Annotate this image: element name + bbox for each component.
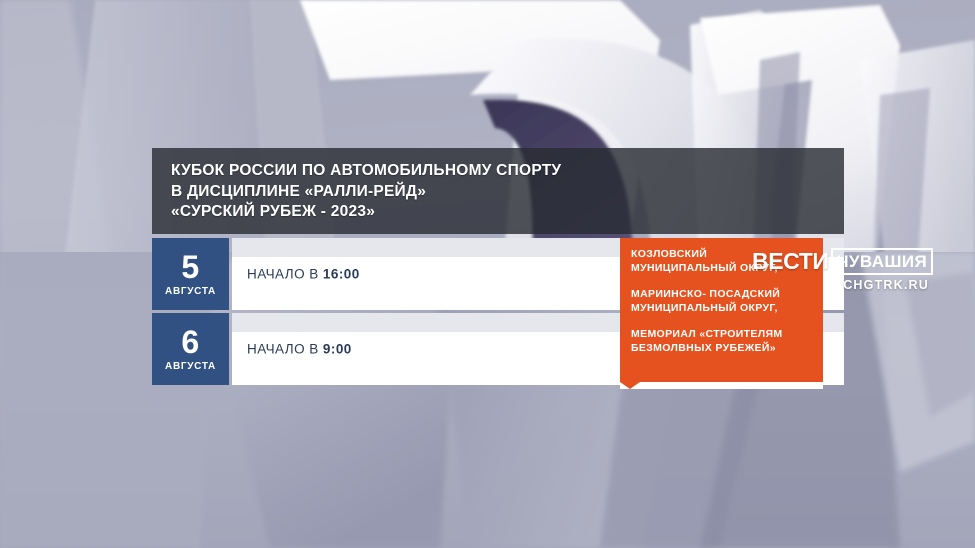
start-time-prefix: НАЧАЛО В: [247, 342, 323, 357]
event-info-panel: КУБОК РОССИИ ПО АВТОМОБИЛЬНОМУ СПОРТУ В …: [152, 148, 844, 389]
location-line: КОЗЛОВСКИЙ: [631, 248, 814, 262]
title-line-1: КУБОК РОССИИ ПО АВТОМОБИЛЬНОМУ СПОРТУ: [171, 161, 844, 182]
date-month: АВГУСТА: [165, 284, 216, 299]
date-badge: 5 АВГУСТА: [152, 238, 229, 310]
location-item: МЕМОРИАЛ «СТРОИТЕЛЯМ БЕЗМОЛВНЫХ РУБЕЖЕЙ»: [631, 328, 814, 355]
location-line: БЕЗМОЛВНЫХ РУБЕЖЕЙ»: [631, 342, 814, 356]
location-line: МУНИЦИПАЛЬНЫЙ ОКРУГ,: [631, 302, 814, 316]
location-line: МУНИЦИПАЛЬНЫЙ ОКРУГ,: [631, 262, 814, 276]
locations-panel: КОЗЛОВСКИЙ МУНИЦИПАЛЬНЫЙ ОКРУГ, МАРИИНСК…: [620, 238, 823, 382]
title-line-2: В ДИСЦИПЛИНЕ «РАЛЛИ-РЕЙД»: [171, 182, 844, 203]
start-time-label: НАЧАЛО В 9:00: [247, 342, 352, 357]
start-time-value: 9:00: [323, 342, 352, 357]
date-day: 6: [181, 326, 199, 359]
start-time-label: НАЧАЛО В 16:00: [247, 267, 360, 282]
location-item: МАРИИНСКО- ПОСАДСКИЙ МУНИЦИПАЛЬНЫЙ ОКРУГ…: [631, 288, 814, 315]
panel-header: КУБОК РОССИИ ПО АВТОМОБИЛЬНОМУ СПОРТУ В …: [152, 148, 844, 234]
locations-panel-notch: [620, 382, 823, 389]
location-line: МЕМОРИАЛ «СТРОИТЕЛЯМ: [631, 328, 814, 342]
broadcast-lower-third-graphic: КУБОК РОССИИ ПО АВТОМОБИЛЬНОМУ СПОРТУ В …: [0, 0, 975, 548]
location-item: КОЗЛОВСКИЙ МУНИЦИПАЛЬНЫЙ ОКРУГ,: [631, 248, 814, 275]
date-badge: 6 АВГУСТА: [152, 313, 229, 385]
location-line: МАРИИНСКО- ПОСАДСКИЙ: [631, 288, 814, 302]
title-line-3: «СУРСКИЙ РУБЕЖ - 2023»: [171, 202, 844, 223]
start-time-prefix: НАЧАЛО В: [247, 267, 323, 282]
date-month: АВГУСТА: [165, 359, 216, 374]
start-time-value: 16:00: [323, 267, 360, 282]
date-day: 5: [181, 251, 199, 284]
